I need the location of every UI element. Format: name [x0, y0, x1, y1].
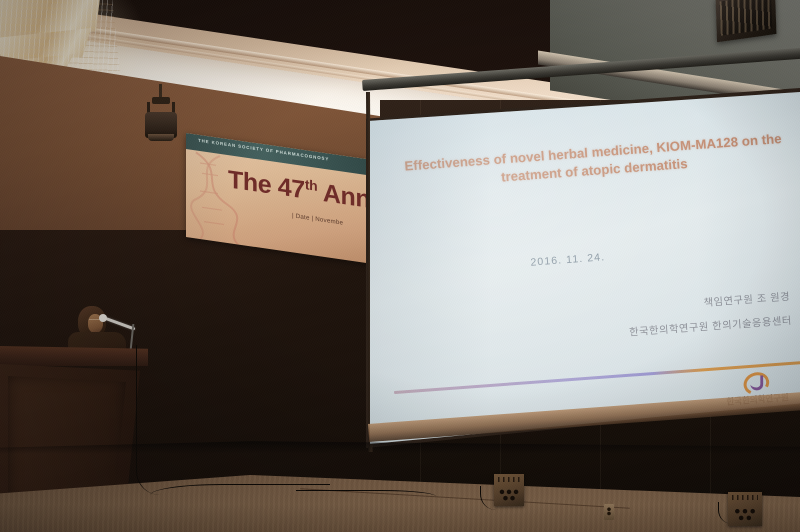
podium-top — [0, 346, 148, 366]
slide-date: 2016. 11. 24. — [403, 242, 733, 278]
floor-cable — [136, 345, 160, 495]
microphone-head-icon — [99, 314, 107, 322]
wall-outlet-icon — [604, 504, 614, 520]
presentation-slide: Effectiveness of novel herbal medicine, … — [370, 92, 800, 443]
wall-connection-plate — [728, 492, 762, 526]
institute-logo-mark-icon — [743, 372, 771, 396]
projection-screen: Effectiveness of novel herbal medicine, … — [370, 92, 800, 444]
dna-helix-graphic — [190, 150, 252, 247]
slide-title: Effectiveness of novel herbal medicine, … — [395, 129, 793, 194]
wall-connection-plate — [494, 474, 524, 506]
banner-date-label: | Date | Novembe — [292, 212, 343, 226]
conference-hall-photo: THE KOREAN SOCIETY OF PHARMACOGNOSY The … — [0, 0, 800, 532]
floor-cable — [296, 490, 436, 506]
banner-title-rest: Ann — [317, 178, 370, 214]
stage-spotlight-icon — [140, 84, 182, 142]
banner-title-ordinal: th — [305, 176, 317, 194]
